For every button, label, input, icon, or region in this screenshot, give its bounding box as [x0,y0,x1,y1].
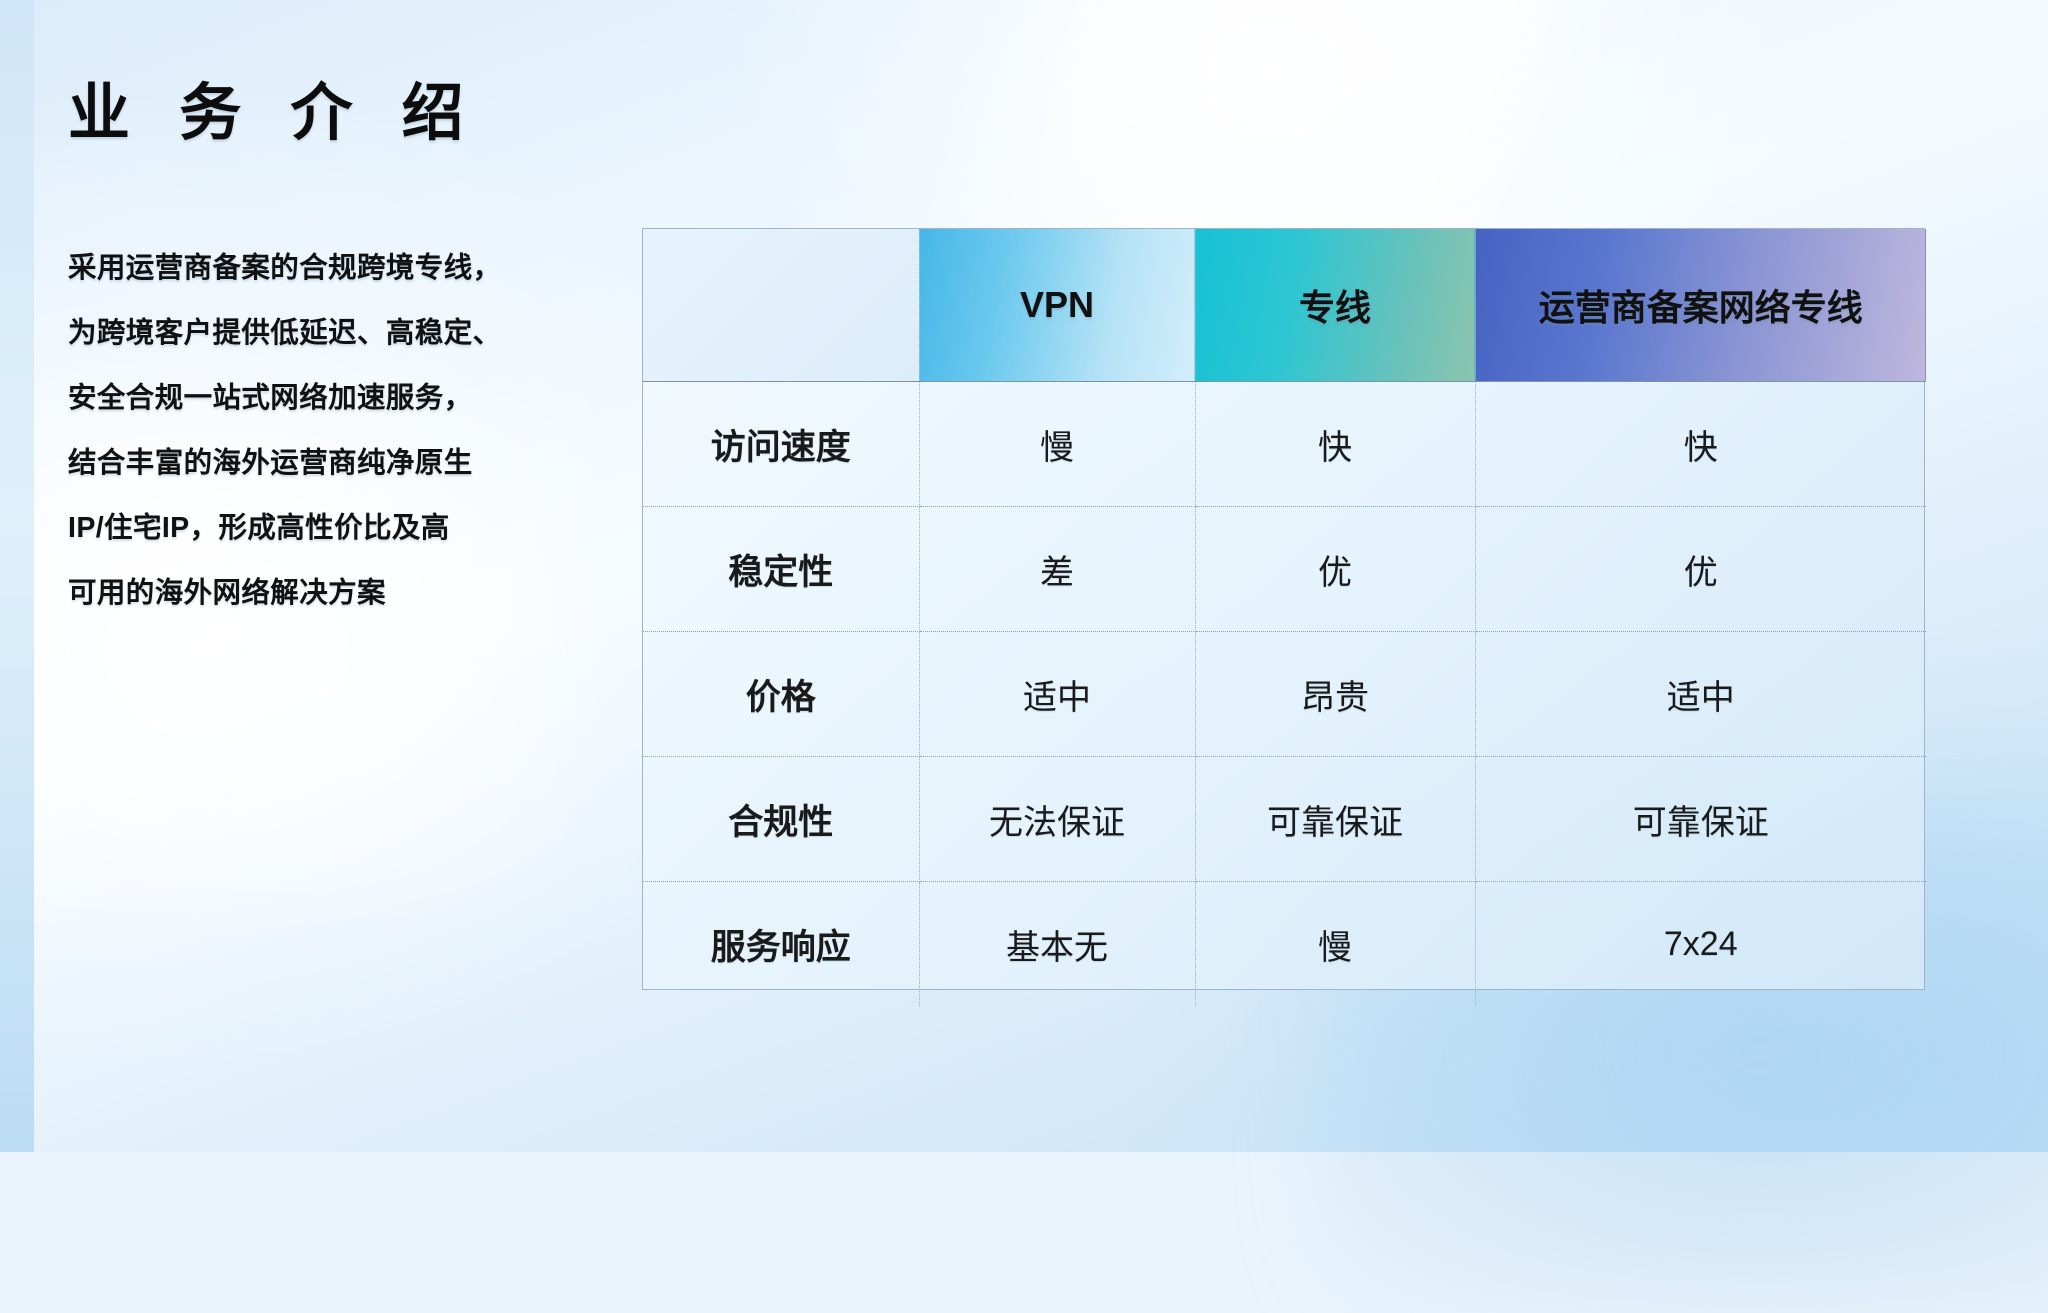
cell-vpn: 慢 [919,382,1195,507]
cell-line: 优 [1195,507,1475,632]
cell-operator: 7x24 [1475,882,1926,1007]
page-title: 业 务 介 绍 [68,62,480,152]
row-label: 价格 [643,632,919,757]
cell-line: 昂贵 [1195,632,1475,757]
table-header: VPN 专线 运营商备案网络专线 [643,229,1926,382]
cell-operator: 适中 [1475,632,1926,757]
cell-vpn: 差 [919,507,1195,632]
table-header-operator: 运营商备案网络专线 [1475,229,1926,382]
paragraph-line-3: 安全合规一站式网络加速服务， [68,366,628,431]
paragraph-line-4: 结合丰富的海外运营商纯净原生 [68,431,628,496]
comparison-table-container: VPN 专线 运营商备案网络专线 访问速度 慢 快 快 稳定性 差 优 优 价格… [642,228,1925,990]
table-header-vpn: VPN [919,229,1195,382]
row-label: 访问速度 [643,382,919,507]
table-header-blank [643,229,919,382]
paragraph-line-5: IP/住宅IP，形成高性价比及高 [68,496,628,561]
cell-line: 可靠保证 [1195,757,1475,882]
cell-vpn: 基本无 [919,882,1195,1007]
table-header-line: 专线 [1195,229,1475,382]
paragraph-line-2: 为跨境客户提供低延迟、高稳定、 [68,301,628,366]
paragraph-line-6: 可用的海外网络解决方案 [68,561,628,626]
table-row: 合规性 无法保证 可靠保证 可靠保证 [643,757,1926,882]
table-row: 价格 适中 昂贵 适中 [643,632,1926,757]
row-label: 合规性 [643,757,919,882]
cell-vpn: 无法保证 [919,757,1195,882]
table-header-row: VPN 专线 运营商备案网络专线 [643,229,1926,382]
cell-line: 快 [1195,382,1475,507]
table-row: 服务响应 基本无 慢 7x24 [643,882,1926,1007]
paragraph-line-1: 采用运营商备案的合规跨境专线， [68,236,628,301]
background-left-edge [0,0,34,1152]
cell-operator: 优 [1475,507,1926,632]
cell-vpn: 适中 [919,632,1195,757]
comparison-table: VPN 专线 运营商备案网络专线 访问速度 慢 快 快 稳定性 差 优 优 价格… [643,229,1926,1006]
table-body: 访问速度 慢 快 快 稳定性 差 优 优 价格 适中 昂贵 适中 合规性 无法保… [643,382,1926,1007]
cell-operator: 快 [1475,382,1926,507]
table-row: 稳定性 差 优 优 [643,507,1926,632]
table-row: 访问速度 慢 快 快 [643,382,1926,507]
cell-line: 慢 [1195,882,1475,1007]
row-label: 服务响应 [643,882,919,1007]
intro-paragraph: 采用运营商备案的合规跨境专线， 为跨境客户提供低延迟、高稳定、 安全合规一站式网… [68,236,628,626]
cell-operator: 可靠保证 [1475,757,1926,882]
row-label: 稳定性 [643,507,919,632]
